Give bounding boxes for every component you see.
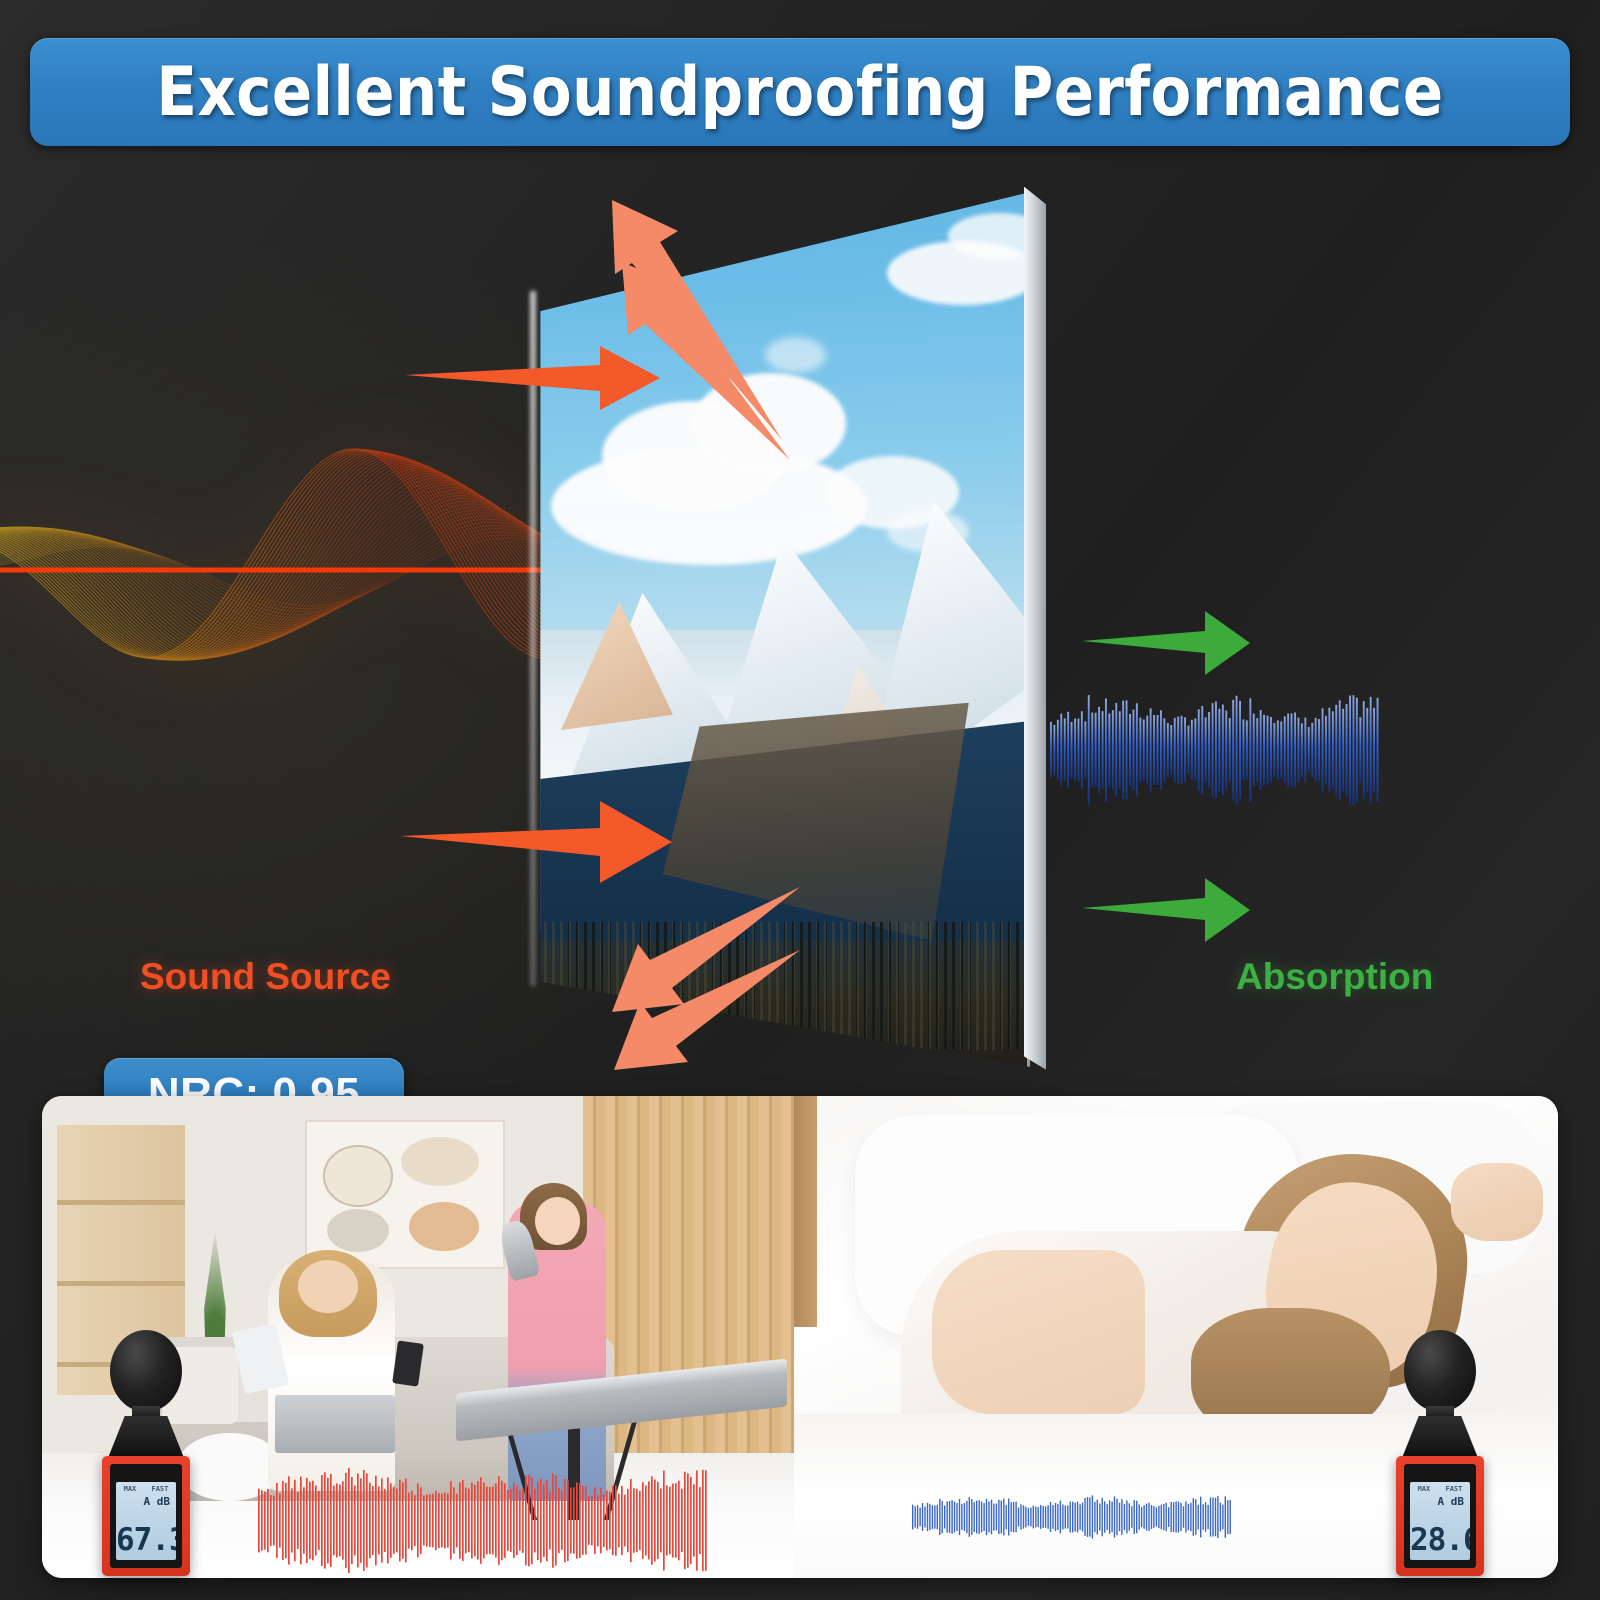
- label-sound-source: Sound Source: [140, 956, 391, 998]
- hero-diagram: Sound Source Absorption Reflex NRC: 0.95: [0, 150, 1600, 1090]
- arrow-layer: [0, 150, 1600, 1090]
- quiet-blue-waveform: [912, 1482, 1232, 1552]
- soundproofing-poster: Excellent Soundproofing Performance: [0, 0, 1600, 1600]
- transmitted-waveform: [1050, 690, 1380, 810]
- reflected-arrow-2: [622, 262, 790, 460]
- microphone-windscreen-icon: [1404, 1330, 1476, 1412]
- lcd-tag-left: MAX: [124, 1485, 137, 1493]
- meter-lcd-right: MAX FAST A dB 28.6: [1410, 1482, 1470, 1560]
- meter-lcd-left: MAX FAST A dB 67.3: [116, 1482, 176, 1560]
- microphone-windscreen-icon: [110, 1330, 182, 1412]
- incident-arrow-top: [405, 346, 660, 410]
- lcd-tag-right: FAST: [152, 1485, 169, 1493]
- lcd-unit: A dB: [1438, 1495, 1465, 1508]
- lcd-value: 28.6: [1410, 1525, 1470, 1556]
- lcd-value: 67.3: [116, 1525, 176, 1556]
- absorption-arrow-top: [1082, 611, 1250, 675]
- loud-red-waveform: [258, 1468, 708, 1573]
- laptop: [275, 1395, 395, 1453]
- incident-arrow-main: [400, 801, 672, 883]
- sound-source-leader: [392, 968, 600, 981]
- lcd-tag-right: FAST: [1446, 1485, 1463, 1493]
- label-absorption: Absorption: [1236, 956, 1433, 998]
- lcd-tag-left: MAX: [1418, 1485, 1431, 1493]
- absorption-arrow-bottom: [1082, 878, 1250, 942]
- wall-art: [305, 1120, 505, 1269]
- header-banner: Excellent Soundproofing Performance: [30, 38, 1570, 146]
- page-title: Excellent Soundproofing Performance: [53, 38, 1547, 146]
- lcd-unit: A dB: [144, 1495, 171, 1508]
